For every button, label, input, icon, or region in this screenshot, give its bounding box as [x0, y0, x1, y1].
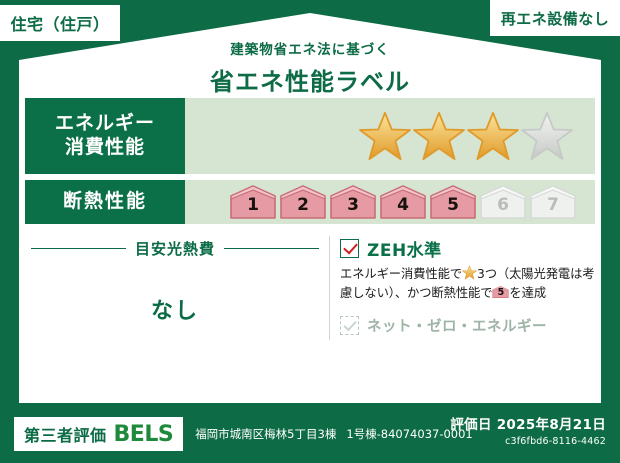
insulation-scale-body: 1234567 [185, 180, 595, 224]
insulation-label-text: 断熱性能 [63, 190, 147, 214]
label-header: 建築物省エネ法に基づく 省エネ性能ラベル [0, 38, 620, 97]
insulation-grade-number: 4 [379, 192, 427, 218]
star-icon [462, 265, 477, 280]
star-icon [521, 111, 573, 161]
insulation-performance-row: 断熱性能 1234567 [25, 180, 595, 224]
star-filled [467, 111, 519, 161]
page-title: 省エネ性能ラベル [0, 62, 620, 97]
net-zero-energy-row: ネット・ゼロ・エネルギー [340, 315, 595, 336]
rule-right [224, 248, 319, 249]
insulation-grade-number: 1 [229, 192, 277, 218]
energy-label-root: 住宅（住戸） 再エネ設備なし 建築物省エネ法に基づく 省エネ性能ラベル エネルギ… [0, 0, 620, 463]
utility-cost-value: なし [25, 293, 325, 325]
evaluation-uid: c3f6fbd6-8116-4462 [450, 436, 606, 447]
star-filled [359, 111, 411, 161]
rule-left [31, 248, 126, 249]
column-divider [329, 236, 330, 340]
insulation-grade-2: 2 [279, 185, 327, 219]
insulation-grade-6: 6 [479, 185, 527, 219]
insulation-grade-number: 5 [429, 192, 477, 218]
zeh-column: ZEH水準 エネルギー消費性能で3つ（太陽光発電は考慮しない）、かつ断熱性能で5… [340, 232, 595, 344]
star-icon [413, 111, 465, 161]
net-zero-energy-label: ネット・ゼロ・エネルギー [367, 315, 547, 336]
insulation-grade-5: 5 [429, 185, 477, 219]
insulation-grade-number: 6 [479, 192, 527, 218]
insulation-performance-label: 断熱性能 [25, 180, 185, 224]
utility-cost-column: 目安光熱費 なし [25, 232, 325, 344]
energy-label-line1: エネルギー [55, 112, 155, 136]
building-type-tag: 住宅（住戸） [0, 5, 120, 41]
evaluation-info: 評価日 2025年8月21日 c3f6fbd6-8116-4462 [450, 413, 606, 447]
energy-label-line2: 消費性能 [65, 136, 145, 160]
zeh-mini-star-icon [462, 265, 477, 280]
bels-logo: BELS [114, 422, 174, 447]
utility-cost-heading: 目安光熱費 [25, 238, 325, 259]
zeh-desc-part2: 3つ（太陽光発電 [477, 267, 570, 281]
zeh-description: エネルギー消費性能で3つ（太陽光発電は考慮しない）、かつ断熱性能で5を達成 [340, 265, 595, 303]
zeh-desc-part4: を達成 [509, 286, 546, 300]
insulation-grade-number: 3 [329, 192, 377, 218]
label-content: エネルギー 消費性能 断熱性能 1234567 目安光熱費 なし [25, 98, 595, 398]
property-address: 福岡市城南区梅林5丁目3棟1号棟-84074037-0001 [195, 426, 473, 442]
energy-performance-row: エネルギー 消費性能 [25, 98, 595, 174]
insulation-grade-3: 3 [329, 185, 377, 219]
insulation-grade-7: 7 [529, 185, 577, 219]
energy-performance-label: エネルギー 消費性能 [25, 98, 185, 174]
insulation-grade-4: 4 [379, 185, 427, 219]
zeh-title: ZEH水準 [367, 236, 442, 261]
renewable-equipment-tag: 再エネ設備なし [490, 0, 620, 36]
bels-badge: 第三者評価 BELS [14, 417, 183, 451]
insulation-grade-number: 7 [529, 192, 577, 218]
star-filled [413, 111, 465, 161]
net-zero-energy-checkbox[interactable] [340, 316, 359, 335]
evaluation-date: 評価日 2025年8月21日 [450, 413, 606, 433]
label-footer: 第三者評価 BELS 福岡市城南区梅林5丁目3棟1号棟-84074037-000… [0, 405, 620, 463]
star-rating [185, 98, 595, 174]
address-text: 福岡市城南区梅林5丁目3棟 [195, 427, 336, 441]
insulation-grade-1: 1 [229, 185, 277, 219]
zeh-grade-chip-icon: 5 [492, 285, 509, 299]
star-empty [521, 111, 573, 161]
zeh-desc-part1: エネルギー消費性能で [340, 267, 462, 281]
third-party-eval-label: 第三者評価 [24, 422, 107, 446]
zeh-heading: ZEH水準 [340, 236, 595, 261]
star-icon [359, 111, 411, 161]
utility-cost-heading-text: 目安光熱費 [135, 238, 215, 259]
header-subtitle: 建築物省エネ法に基づく [0, 38, 620, 58]
zeh-checkbox[interactable] [340, 239, 359, 258]
star-icon [467, 111, 519, 161]
insulation-grade-number: 2 [279, 192, 327, 218]
zeh-grade-chip-value: 5 [492, 285, 509, 299]
insulation-grade-scale: 1234567 [229, 185, 577, 219]
bottom-section: 目安光熱費 なし ZEH水準 エネルギー消費性能で3つ（太陽光発電は考慮しない）… [25, 232, 595, 344]
